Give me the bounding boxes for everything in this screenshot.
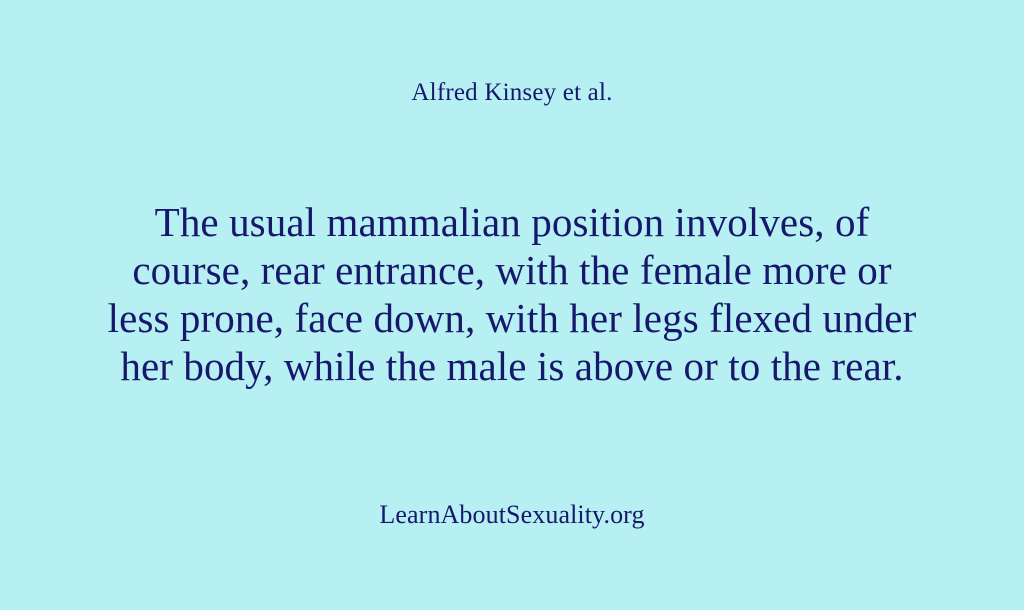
quote-text: The usual mammalian position involves, o…: [28, 198, 996, 390]
quote-line: The usual mammalian position involves, o…: [28, 198, 996, 246]
quote-line: her body, while the male is above or to …: [28, 342, 996, 390]
quote-card: Alfred Kinsey et al. The usual mammalian…: [0, 0, 1024, 610]
site-attribution: LearnAboutSexuality.org: [0, 498, 1024, 532]
quote-line: less prone, face down, with her legs fle…: [28, 294, 996, 342]
quote-line: course, rear entrance, with the female m…: [28, 246, 996, 294]
quote-author: Alfred Kinsey et al.: [0, 76, 1024, 110]
